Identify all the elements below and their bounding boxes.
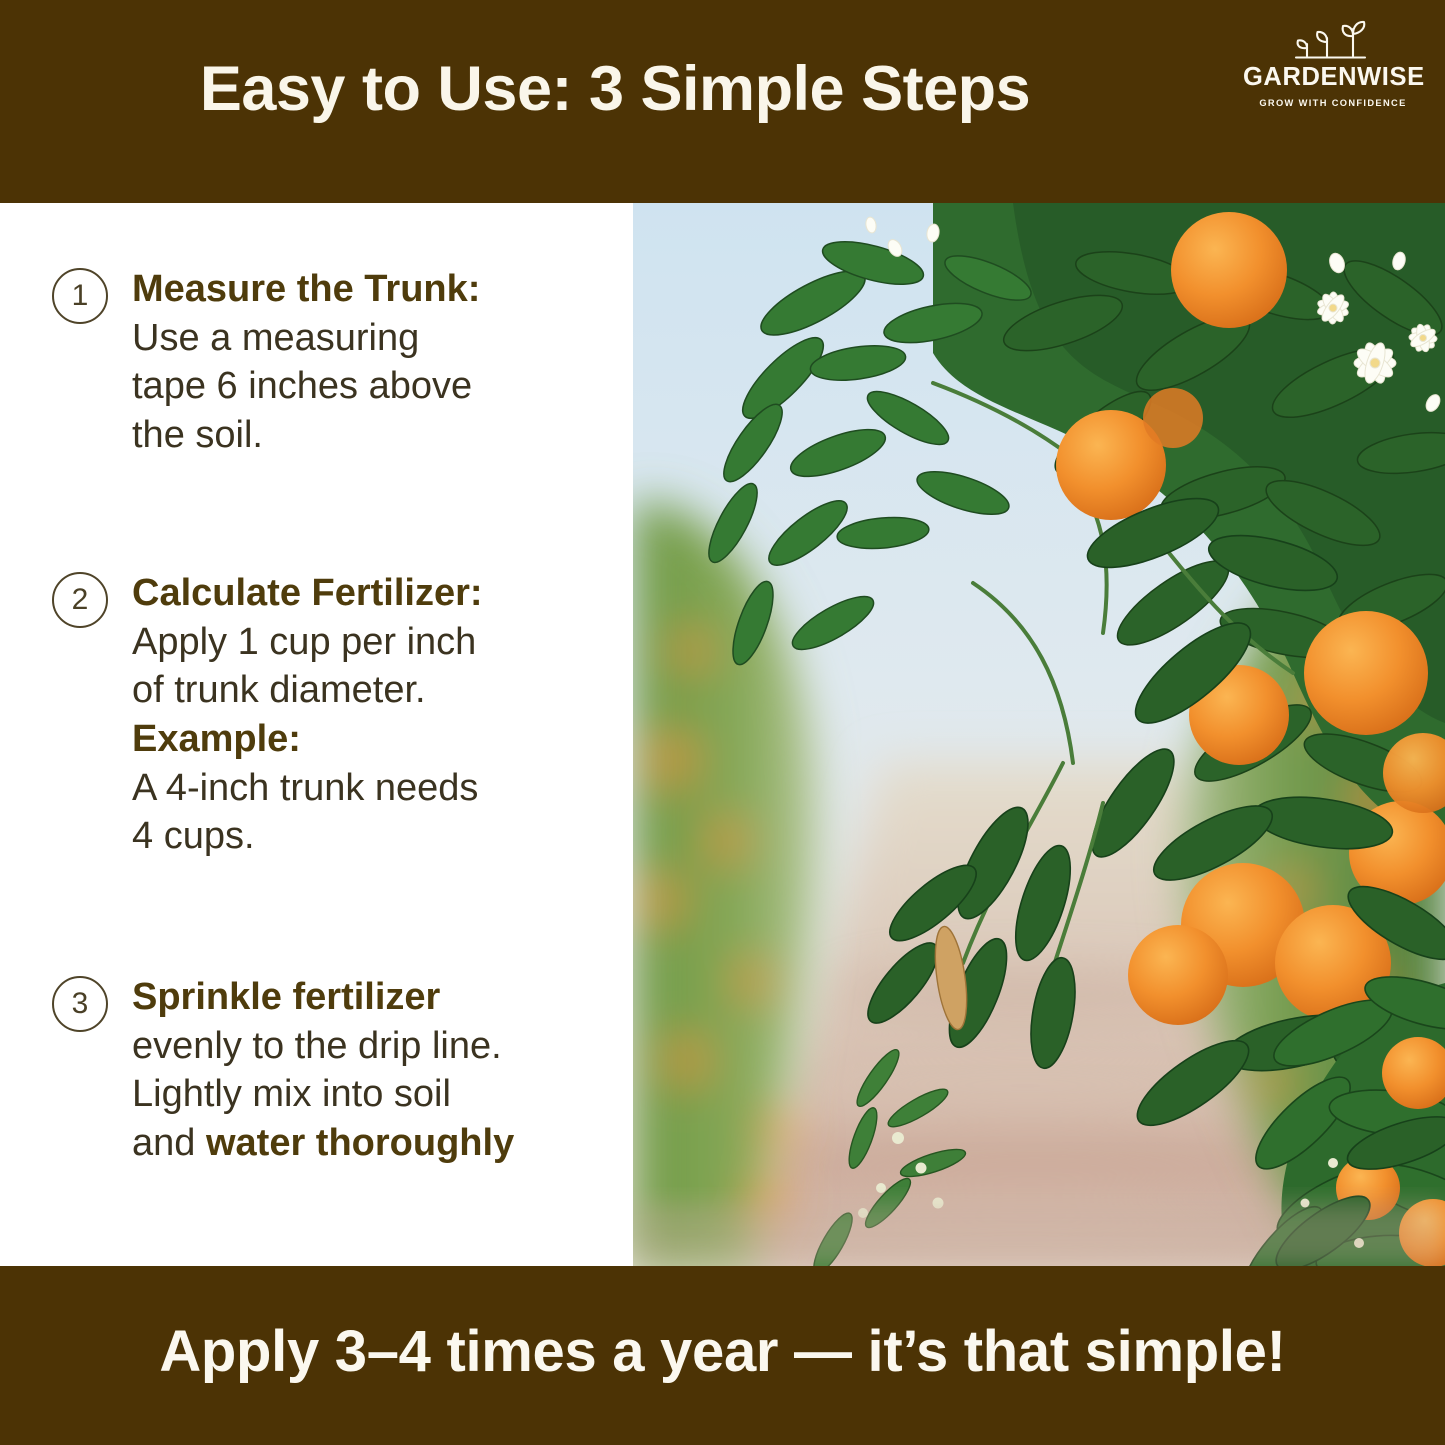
step-subheading-2: Example: [132, 715, 622, 764]
three-sprouts-icon [1243, 18, 1423, 62]
step-line: A 4-inch trunk needs [132, 764, 622, 813]
step-line-bold: water thoroughly [206, 1122, 514, 1164]
brand-logo: GARDENWISE GROW WITH CONFIDENCE [1243, 18, 1423, 108]
step-line: evenly to the drip line. [132, 1022, 622, 1071]
step-number-badge-1: 1 [52, 268, 108, 324]
step-line: Lightly mix into soil [132, 1070, 622, 1119]
step-line: tape 6 inches above [132, 362, 622, 411]
logo-tagline: GROW WITH CONFIDENCE [1243, 98, 1423, 108]
step-heading-1: Measure the Trunk: [132, 265, 622, 314]
step-text-2: Calculate Fertilizer: Apply 1 cup per in… [132, 569, 622, 861]
step-line: the soil. [132, 411, 622, 460]
step-line: of trunk diameter. [132, 666, 622, 715]
header-band: Easy to Use: 3 Simple Steps [0, 0, 1445, 203]
footer-callout: Apply 3–4 times a year — it’s that simpl… [0, 1318, 1445, 1385]
infographic-poster: Easy to Use: 3 Simple Steps [0, 0, 1445, 1445]
steps-panel: 1 Measure the Trunk: Use a measuring tap… [0, 203, 633, 1266]
step-item-3: 3 Sprinkle fertilizer evenly to the drip… [52, 973, 622, 1168]
step-heading-3: Sprinkle fertilizer [132, 973, 622, 1022]
step-number-badge-2: 2 [52, 572, 108, 628]
step-line-emphasis: and water thoroughly [132, 1119, 622, 1168]
citrus-orchard-photo [633, 203, 1445, 1266]
step-line: 4 cups. [132, 812, 622, 861]
step-item-2: 2 Calculate Fertilizer: Apply 1 cup per … [52, 569, 622, 861]
step-number-badge-3: 3 [52, 976, 108, 1032]
page-title: Easy to Use: 3 Simple Steps [0, 56, 1230, 122]
step-heading-2: Calculate Fertilizer: [132, 569, 622, 618]
step-item-1: 1 Measure the Trunk: Use a measuring tap… [52, 265, 622, 460]
step-line: Apply 1 cup per inch [132, 618, 622, 667]
step-line: Use a measuring [132, 314, 622, 363]
logo-wordmark: GARDENWISE [1243, 65, 1423, 91]
footer-band: Apply 3–4 times a year — it’s that simpl… [0, 1266, 1445, 1445]
step-text-1: Measure the Trunk: Use a measuring tape … [132, 265, 622, 460]
step-line-prefix: and [132, 1122, 206, 1164]
step-text-3: Sprinkle fertilizer evenly to the drip l… [132, 973, 622, 1168]
